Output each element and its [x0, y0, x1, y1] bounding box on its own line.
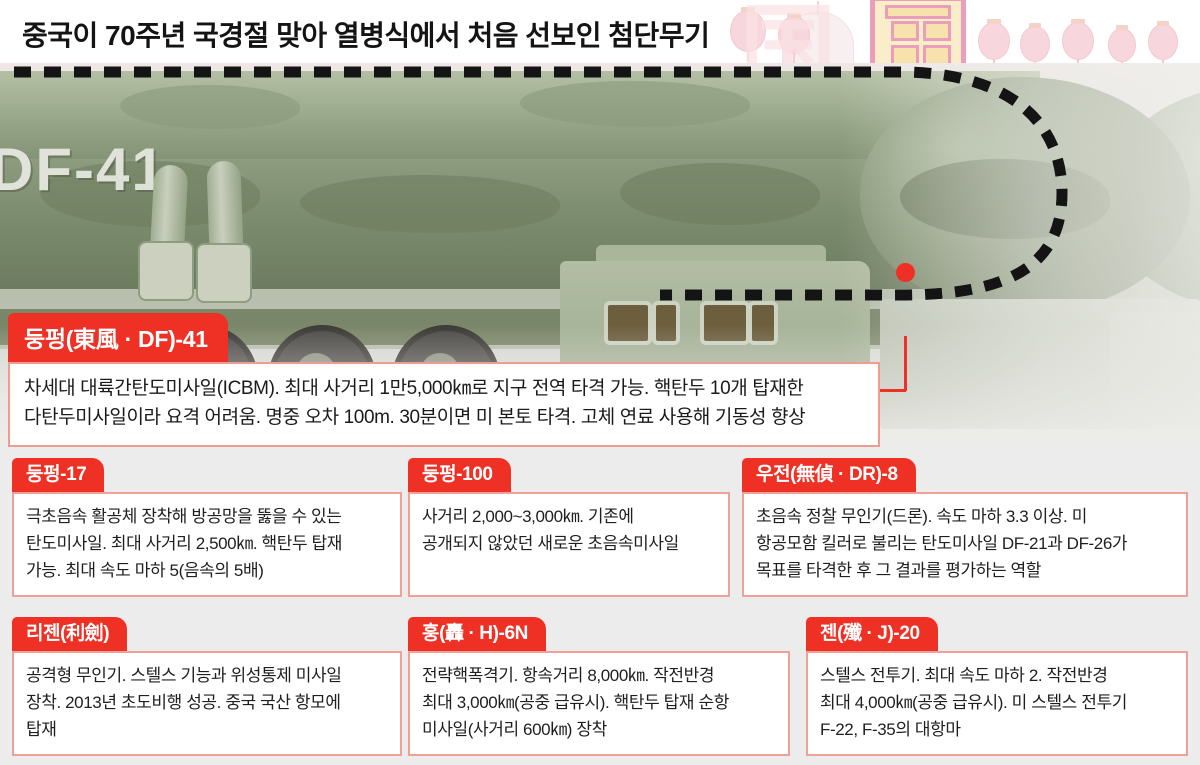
weapon-card-grid: 둥펑-17 극초음속 활공체 장착해 방공망을 뚫을 수 있는 탄도미사일. 최…: [0, 445, 1200, 765]
card-title: 우전(無偵 · DR)-8: [742, 458, 916, 492]
card-line: 가능. 최대 속도 마하 5(음속의 5배): [26, 557, 388, 584]
callout-leader-vertical: [904, 336, 907, 391]
card-title: 젠(殲 · J)-20: [806, 617, 938, 651]
lantern-icon: [1062, 22, 1094, 60]
card-title: 훙(轟 · H)-6N: [408, 617, 546, 651]
weapon-card-dr-8[interactable]: 우전(無偵 · DR)-8 초음속 정찰 무인기(드론). 속도 마하 3.3 …: [742, 458, 1188, 597]
card-line: F-22, F-35의 대항마: [820, 716, 1174, 743]
card-line: 탑재: [26, 716, 388, 743]
lantern-icon: [1020, 26, 1050, 62]
card-line: 극초음속 활공체 장착해 방공망을 뚫을 수 있는: [26, 503, 388, 530]
card-title: 리젠(利劍): [12, 617, 127, 651]
equipment-drum: [196, 243, 252, 303]
card-line: 항공모함 킬러로 불리는 탄도미사일 DF-21과 DF-26가: [756, 530, 1174, 557]
gate-char-frame: [870, 0, 966, 63]
equipment-drum: [138, 241, 194, 301]
card-line: 스텔스 전투기. 최대 속도 마하 2. 작전반경: [820, 662, 1174, 689]
lantern-icon: [1148, 24, 1178, 60]
weapon-card-h-6n[interactable]: 훙(轟 · H)-6N 전략핵폭격기. 항속거리 8,000㎞. 작전반경 최대…: [408, 617, 790, 756]
hero-line: 다탄두미사일이라 요격 어려움. 명중 오차 100m. 30분이면 미 본토 …: [24, 403, 864, 432]
card-title: 둥펑-17: [12, 458, 104, 492]
card-body: 초음속 정찰 무인기(드론). 속도 마하 3.3 이상. 미 항공모함 킬러로…: [742, 492, 1188, 597]
card-body: 극초음속 활공체 장착해 방공망을 뚫을 수 있는 탄도미사일. 최대 사거리 …: [12, 492, 402, 597]
weapon-card-li-jian[interactable]: 리젠(利劍) 공격형 무인기. 스텔스 기능과 위성통제 미사일 장착. 201…: [12, 617, 402, 756]
card-line: 사거리 2,000~3,000㎞. 기존에: [422, 503, 716, 530]
hero-card-title: 둥펑(東風 · DF)-41: [8, 313, 228, 362]
card-line: 공격형 무인기. 스텔스 기능과 위성통제 미사일: [26, 662, 388, 689]
lantern-icon: [978, 22, 1010, 60]
card-line: 전략핵폭격기. 항속거리 8,000㎞. 작전반경: [422, 662, 776, 689]
weapon-card-df-17[interactable]: 둥펑-17 극초음속 활공체 장착해 방공망을 뚫을 수 있는 탄도미사일. 최…: [12, 458, 402, 597]
hero-line: 차세대 대륙간탄도미사일(ICBM). 최대 사거리 1만5,000㎞로 지구 …: [24, 374, 864, 403]
card-body: 사거리 2,000~3,000㎞. 기존에 공개되지 않았던 새로운 초음속미사…: [408, 492, 730, 597]
page-title: 중국이 70주년 국경절 맞아 열병식에서 처음 선보인 첨단무기: [22, 14, 709, 54]
infographic-page: 国 중국이 70주년 국경절 맞아 열병식에서 처음 선보인 첨단무기 DF-4…: [0, 0, 1200, 765]
hero-card-body: 차세대 대륙간탄도미사일(ICBM). 최대 사거리 1만5,000㎞로 지구 …: [8, 362, 880, 447]
card-title: 둥펑-100: [408, 458, 511, 492]
callout-marker-dot: [896, 263, 915, 282]
weapon-card-df-100[interactable]: 둥펑-100 사거리 2,000~3,000㎞. 기존에 공개되지 않았던 새로…: [408, 458, 730, 597]
card-line: 장착. 2013년 초도비행 성공. 중국 국산 항모에: [26, 689, 388, 716]
card-line: [422, 557, 716, 584]
card-body: 공격형 무인기. 스텔스 기능과 위성통제 미사일 장착. 2013년 초도비행…: [12, 651, 402, 756]
hero-caption-card: 둥펑(東風 · DF)-41 차세대 대륙간탄도미사일(ICBM). 최대 사거…: [8, 313, 880, 447]
card-line: 최대 4,000㎞(공중 급유시). 미 스텔스 전투기: [820, 689, 1174, 716]
card-body: 전략핵폭격기. 항속거리 8,000㎞. 작전반경 최대 3,000㎞(공중 급…: [408, 651, 790, 756]
card-body: 스텔스 전투기. 최대 속도 마하 2. 작전반경 최대 4,000㎞(공중 급…: [806, 651, 1188, 756]
card-line: 최대 3,000㎞(공중 급유시). 핵탄두 탑재 순항: [422, 689, 776, 716]
vehicle-marking-df41: DF-41: [0, 135, 167, 204]
card-line: 초음속 정찰 무인기(드론). 속도 마하 3.3 이상. 미: [756, 503, 1174, 530]
card-line: 미사일(사거리 600㎞) 장착: [422, 716, 776, 743]
decor-char: 国: [740, 0, 836, 63]
card-line: 탄도미사일. 최대 사거리 2,500㎞. 핵탄두 탑재: [26, 530, 388, 557]
title-band: 国 중국이 70주년 국경절 맞아 열병식에서 처음 선보인 첨단무기: [0, 0, 1200, 63]
card-line: 목표를 타격한 후 그 결과를 평가하는 역할: [756, 557, 1174, 584]
weapon-card-j-20[interactable]: 젠(殲 · J)-20 스텔스 전투기. 최대 속도 마하 2. 작전반경 최대…: [806, 617, 1188, 756]
title-decoration: 国: [720, 0, 1200, 63]
lantern-icon: [1108, 28, 1136, 62]
card-line: 공개되지 않았던 새로운 초음속미사일: [422, 530, 716, 557]
